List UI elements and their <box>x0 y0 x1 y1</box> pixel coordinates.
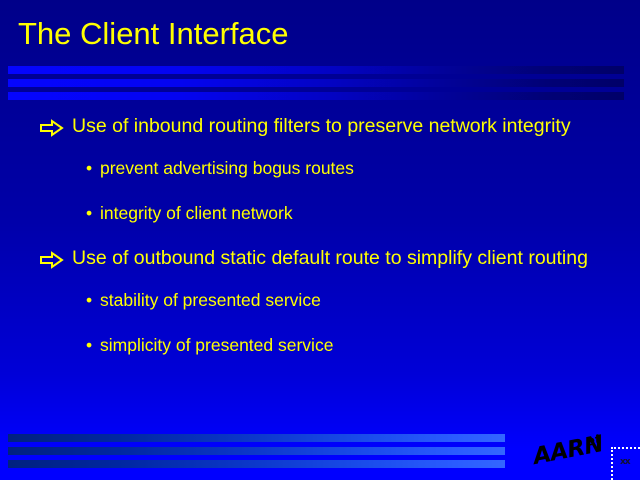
decorative-bar <box>8 434 505 442</box>
bullet-text: integrity of client network <box>100 203 293 223</box>
bullet-text: Use of outbound static default route to … <box>72 247 588 269</box>
bullet-text: simplicity of presented service <box>100 335 333 355</box>
dot-bullet-icon: • <box>86 333 92 357</box>
bullet-level2: • prevent advertising bogus routes <box>0 156 640 180</box>
dot-bullet-icon: • <box>86 201 92 225</box>
bullet-text: prevent advertising bogus routes <box>100 158 354 178</box>
decorative-bar <box>8 66 624 74</box>
decorative-bar <box>8 460 505 468</box>
dot-bullet-icon: • <box>86 156 92 180</box>
bullet-text: Use of inbound routing filters to preser… <box>72 115 571 137</box>
bullet-text: stability of presented service <box>100 290 321 310</box>
spacer <box>0 318 640 327</box>
decorative-bar <box>8 447 505 455</box>
bullet-level1: Use of outbound static default route to … <box>0 245 640 271</box>
page-number: xx <box>620 457 630 467</box>
decorative-bar <box>8 79 624 87</box>
presentation-slide: The Client Interface Use of inbound rout… <box>0 0 640 480</box>
slide-title: The Client Interface <box>18 16 618 52</box>
decorative-bar <box>8 92 624 100</box>
dot-bullet-icon: • <box>86 288 92 312</box>
bottom-decorative-bars <box>8 434 505 468</box>
spacer <box>0 141 640 150</box>
spacer <box>0 273 640 282</box>
bullet-level2: • stability of presented service <box>0 288 640 312</box>
hollow-right-arrow-icon <box>40 119 64 137</box>
spacer <box>0 186 640 195</box>
hollow-right-arrow-icon <box>40 251 64 269</box>
slide-body: Use of inbound routing filters to preser… <box>0 113 640 363</box>
bullet-level2: • simplicity of presented service <box>0 333 640 357</box>
top-decorative-bars <box>8 66 624 100</box>
spacer <box>0 231 640 245</box>
page-number-placeholder: xx <box>611 447 640 480</box>
bullet-level1: Use of inbound routing filters to preser… <box>0 113 640 139</box>
aarnet-logo: AARN et <box>536 428 614 474</box>
bullet-level2: • integrity of client network <box>0 201 640 225</box>
